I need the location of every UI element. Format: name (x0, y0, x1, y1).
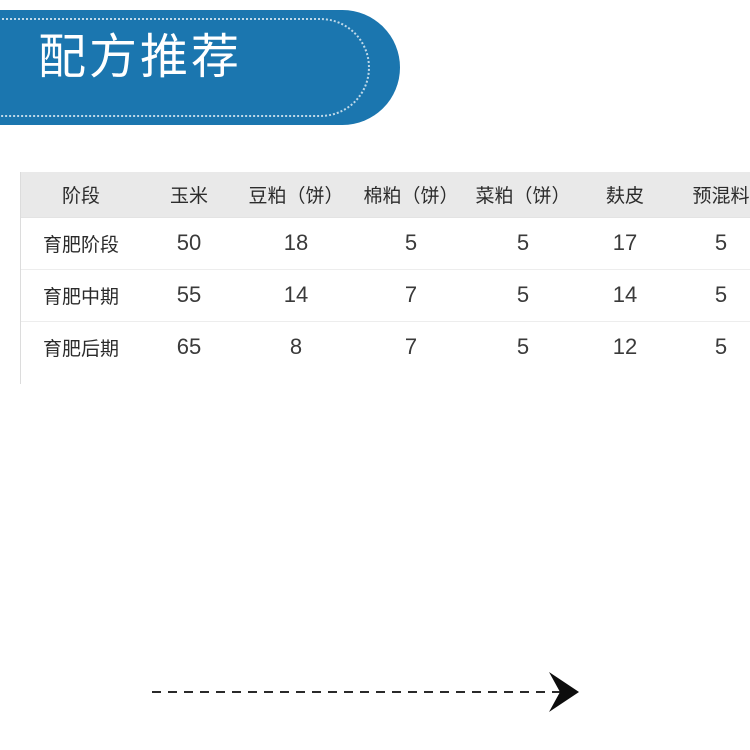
column-header-soybean: 豆粕（饼） (237, 172, 355, 217)
cell-cotton: 7 (355, 269, 467, 321)
cell-bran: 17 (579, 217, 671, 269)
cell-bran: 12 (579, 321, 671, 373)
cell-soybean: 8 (237, 321, 355, 373)
table-row: 育肥中期 55 14 7 5 14 5 (21, 269, 750, 321)
table-row: 育肥阶段 50 18 5 5 17 5 (21, 217, 750, 269)
column-header-corn: 玉米 (141, 172, 237, 217)
cell-rapeseed: 5 (467, 217, 579, 269)
cell-corn: 50 (141, 217, 237, 269)
page-title: 配方推荐 (38, 28, 242, 88)
cell-stage: 育肥阶段 (21, 217, 141, 269)
cell-stage: 育肥后期 (21, 321, 141, 373)
cell-premix: 5 (671, 217, 750, 269)
column-header-cotton: 棉粕（饼） (355, 172, 467, 217)
section-distribution-diagram: 省 总经销 代理商 批发商 专卖店 工厂 消费者 出厂价 +10% +16% +… (0, 388, 750, 750)
column-header-premix: 预混料 (671, 172, 750, 217)
cell-corn: 65 (141, 321, 237, 373)
cell-rapeseed: 5 (467, 269, 579, 321)
recipe-table: 阶段 玉米 豆粕（饼） 棉粕（饼） 菜粕（饼） 麸皮 预混料 育肥阶段 50 1… (21, 172, 750, 373)
cell-corn: 55 (141, 269, 237, 321)
cell-cotton: 7 (355, 321, 467, 373)
table-row: 育肥后期 65 8 7 5 12 5 (21, 321, 750, 373)
infographic-page: 配方推荐 阶段 玉米 豆粕（饼） 棉粕（饼） 菜粕（饼） 麸皮 预混料 育 (0, 0, 750, 750)
column-header-bran: 麸皮 (579, 172, 671, 217)
cell-premix: 5 (671, 321, 750, 373)
cell-rapeseed: 5 (467, 321, 579, 373)
cell-bran: 14 (579, 269, 671, 321)
cell-cotton: 5 (355, 217, 467, 269)
cell-soybean: 14 (237, 269, 355, 321)
table-header-row: 阶段 玉米 豆粕（饼） 棉粕（饼） 菜粕（饼） 麸皮 预混料 (21, 172, 750, 217)
column-header-rapeseed: 菜粕（饼） (467, 172, 579, 217)
cell-soybean: 18 (237, 217, 355, 269)
cell-stage: 育肥中期 (21, 269, 141, 321)
cell-premix: 5 (671, 269, 750, 321)
column-header-stage: 阶段 (21, 172, 141, 217)
connector-lines (0, 388, 750, 750)
recipe-table-wrapper: 阶段 玉米 豆粕（饼） 棉粕（饼） 菜粕（饼） 麸皮 预混料 育肥阶段 50 1… (20, 172, 750, 384)
